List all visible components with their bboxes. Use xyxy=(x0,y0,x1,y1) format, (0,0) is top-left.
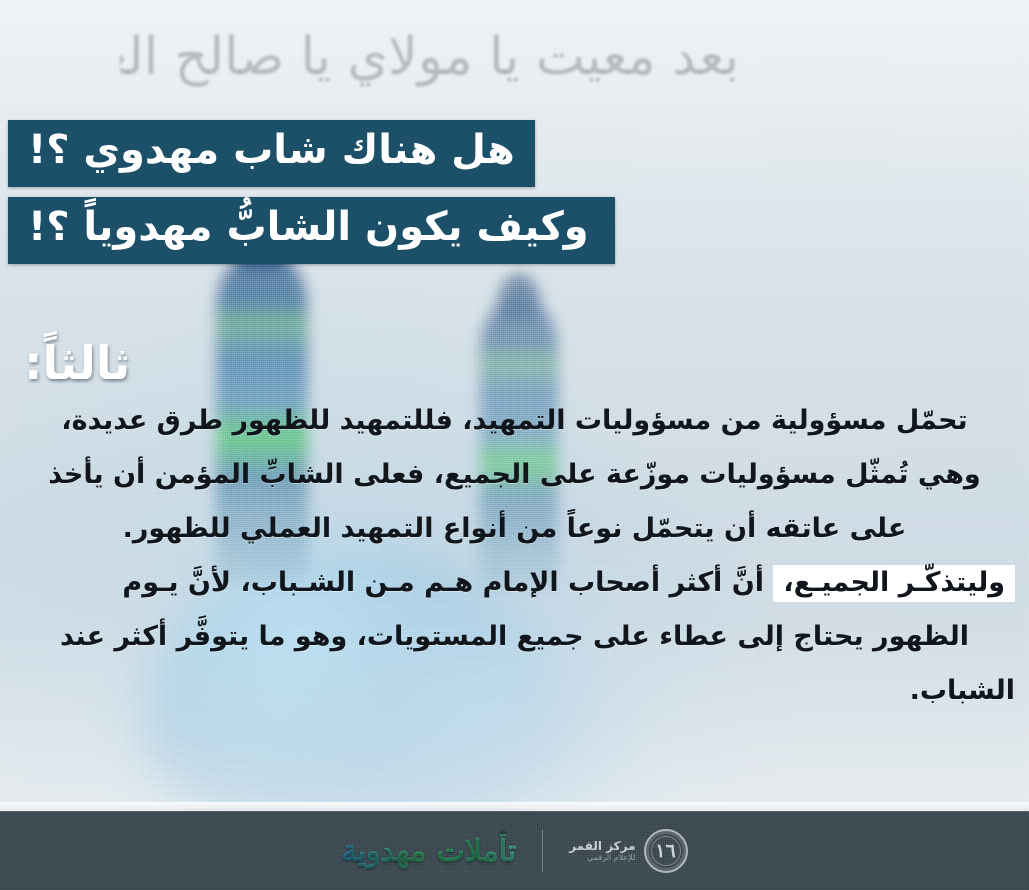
body-content: ثالثاً: تحمّل مسؤولية من مسؤوليات التمهي… xyxy=(14,336,1015,718)
headline-box-primary: هل هناك شاب مهدوي ؟! xyxy=(8,120,535,187)
calligraphy-watermark: بعد معيت يا مولاي يا صالح العهدي xyxy=(120,14,739,100)
body-line-6: الشباب. xyxy=(14,664,1015,718)
center-name-line1: مركز القمر xyxy=(569,840,635,854)
brand-logo-text: تأملات مهدوية xyxy=(342,834,517,869)
highlighted-phrase: وليتذكّـر الجميـع، xyxy=(773,565,1015,602)
body-line-3: على عاتقه أن يتحمّل نوعاً من أنواع التمه… xyxy=(14,502,1015,556)
body-paragraph: تحمّل مسؤولية من مسؤوليات التمهيد، فللتم… xyxy=(14,394,1015,718)
body-line-4: وليتذكّـر الجميـع، أنَّ أكثر أصحاب الإما… xyxy=(14,556,1015,610)
headline-box-secondary: وكيف يكون الشابُّ مهدوياً ؟! xyxy=(8,197,615,264)
center-logo: ١٦ مركز القمر للإعلام الرقمي xyxy=(569,829,687,873)
center-name: مركز القمر للإعلام الرقمي xyxy=(569,840,635,863)
center-seal-icon: ١٦ xyxy=(644,829,688,873)
body-line-5: الظهور يحتاج إلى عطاء على جميع المستويات… xyxy=(14,610,1015,664)
footer-divider xyxy=(542,830,543,872)
body-line-4-rest: أنَّ أكثر أصحاب الإمام هـم مـن الشـباب، … xyxy=(122,567,764,598)
center-name-line2: للإعلام الرقمي xyxy=(569,853,635,862)
section-label-third: ثالثاً: xyxy=(24,336,1015,390)
body-line-2: وهي تُمثّل مسؤوليات موزّعة على الجميع، ف… xyxy=(14,448,1015,502)
body-line-1: تحمّل مسؤولية من مسؤوليات التمهيد، فللتم… xyxy=(14,394,1015,448)
footer-bar: ١٦ مركز القمر للإعلام الرقمي تأملات مهدو… xyxy=(0,811,1029,890)
headline-group: هل هناك شاب مهدوي ؟! وكيف يكون الشابُّ م… xyxy=(8,120,1021,264)
poster-canvas: بعد معيت يا مولاي يا صالح العهدي هل هناك… xyxy=(0,0,1029,890)
